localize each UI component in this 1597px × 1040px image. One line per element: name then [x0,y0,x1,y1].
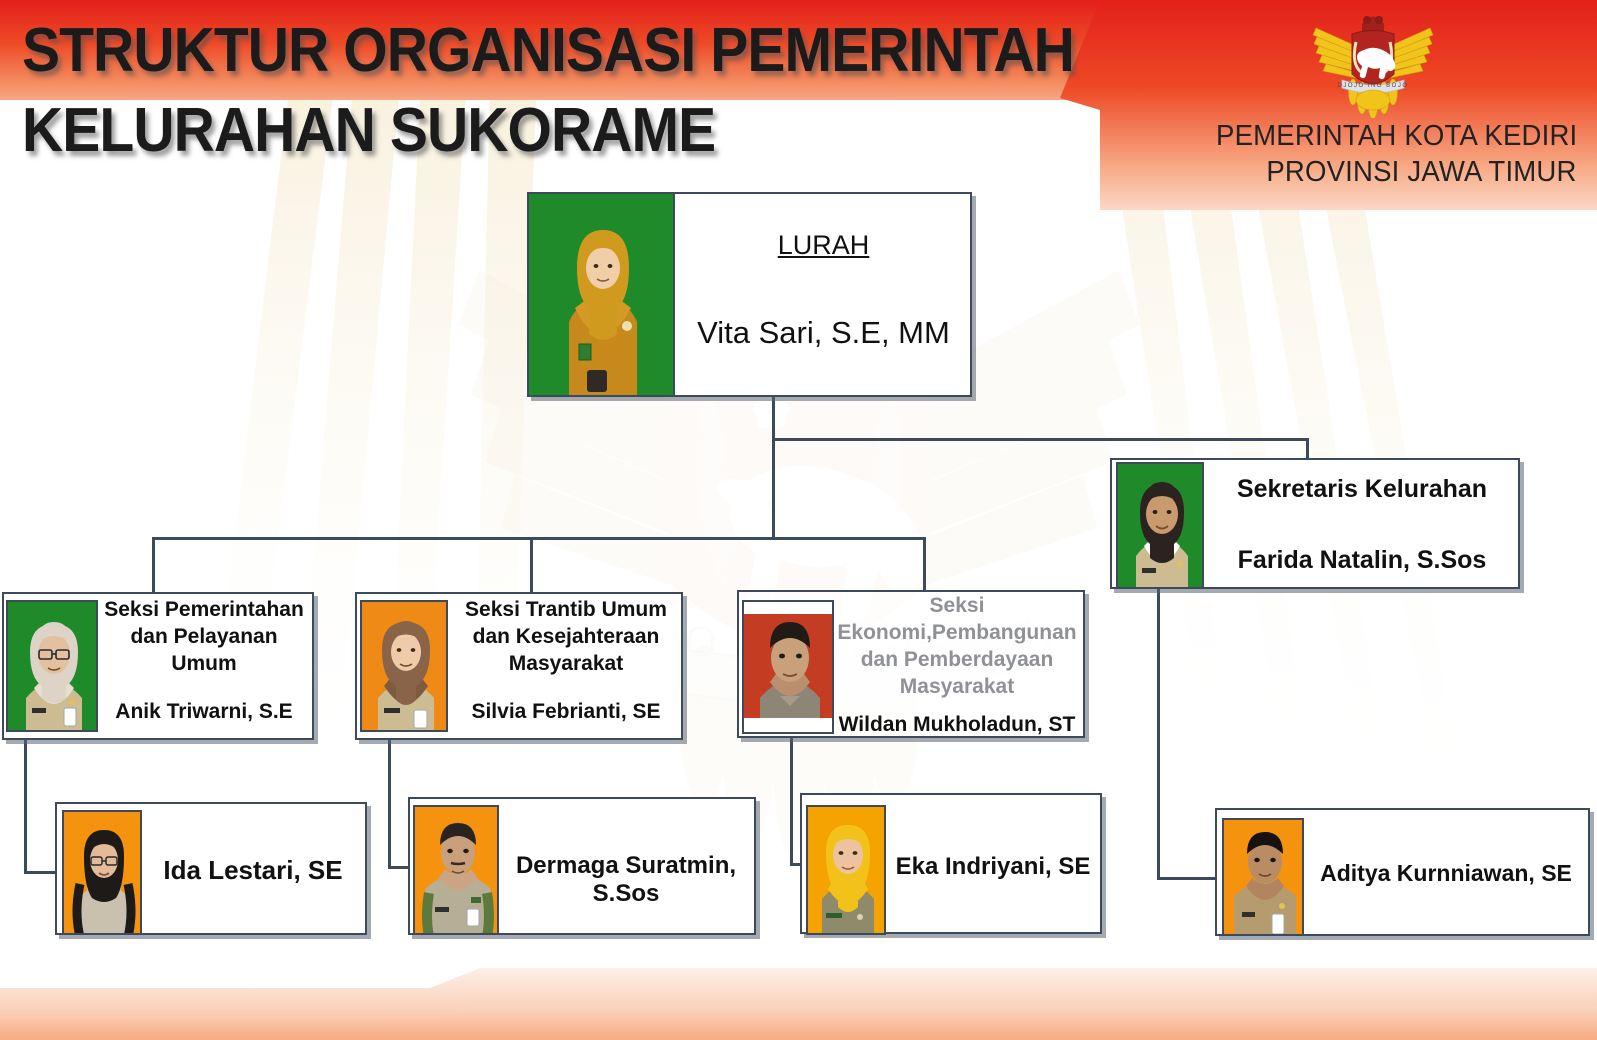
lurah-title-label: LURAH [675,230,972,261]
connector-seksi2-to-staff2-h [388,866,410,869]
photo-eka-indriyani [806,805,886,935]
connector-seksi1-drop [152,537,155,594]
connector-lurah-to-sekretaris-h [772,438,1309,441]
staff-aditya-kurnniawan-name-label: Aditya Kurnniawan, SE [1304,860,1588,887]
photo-anik-triwarni [6,600,98,732]
photo-vita-sari [527,192,675,397]
photo-wildan-mukholadun [742,600,834,734]
seksi-trantib-title-label: Seksi Trantib Umum dan Kesejahteraan Mas… [446,596,686,677]
photo-aditya-kurnniawan [1222,818,1304,936]
seksi-pemerintahan-title-label: Seksi Pemerintahan dan Pelayanan Umum [96,596,312,677]
connector-seksi3-drop [923,537,926,592]
kediri-city-emblem-icon: DJOJO ING BOJO [1310,6,1436,118]
photo-dermaga-suratmin [413,805,499,935]
connector-seksi2-to-staff2-v [388,739,391,869]
seksi-ekonomi-title-label: Seksi Ekonomi,Pembangunan dan Pemberdaya… [832,592,1082,700]
seksi-ekonomi-name-label: Wildan Mukholadun, ST [832,713,1082,737]
photo-farida-natalin [1116,462,1204,589]
connector-seksi2-drop [530,537,533,594]
org-chart-poster: DJOJO ING BOJO STRUKTUR ORGANISASI PEMER… [0,0,1597,1040]
photo-ida-lestari [62,810,142,935]
connector-sekretaris-to-staff4-h [1157,877,1219,880]
connector-seksi1-to-staff1-v [24,739,27,873]
government-line-1: PEMERINTAH KOTA KEDIRI [1216,118,1577,154]
connector-sekretaris-to-staff4-v [1157,589,1160,880]
sekretaris-title-label: Sekretaris Kelurahan [1212,475,1512,504]
sekretaris-name-label: Farida Natalin, S.Sos [1212,546,1512,575]
connector-seksi3-to-staff3-v [790,736,793,866]
staff-dermaga-suratmin-name-label: Dermaga Suratmin, S.Sos [500,852,752,908]
photo-silvia-febrianti [360,600,448,732]
connector-seksi-bus [152,537,925,540]
staff-eka-indriyani-name-label: Eka Indriyani, SE [886,853,1100,881]
page-title-line1: STRUKTUR ORGANISASI PEMERINTAH [22,18,1074,84]
svg-text:DJOJO ING BOJO: DJOJO ING BOJO [1337,83,1408,89]
connector-sekretaris-down [1306,438,1309,460]
connector-seksi1-to-staff1-h [24,871,57,874]
connector-lurah-down [772,397,775,539]
lurah-name-label: Vita Sari, S.E, MM [675,315,972,351]
government-line-2: PROVINSI JAWA TIMUR [1267,154,1577,190]
seksi-pemerintahan-name-label: Anik Triwarni, S.E [96,700,312,724]
staff-ida-lestari-name-label: Ida Lestari, SE [142,855,364,886]
seksi-trantib-name-label: Silvia Febrianti, SE [446,700,686,724]
page-title-line2: KELURAHAN SUKORAME [22,98,715,164]
